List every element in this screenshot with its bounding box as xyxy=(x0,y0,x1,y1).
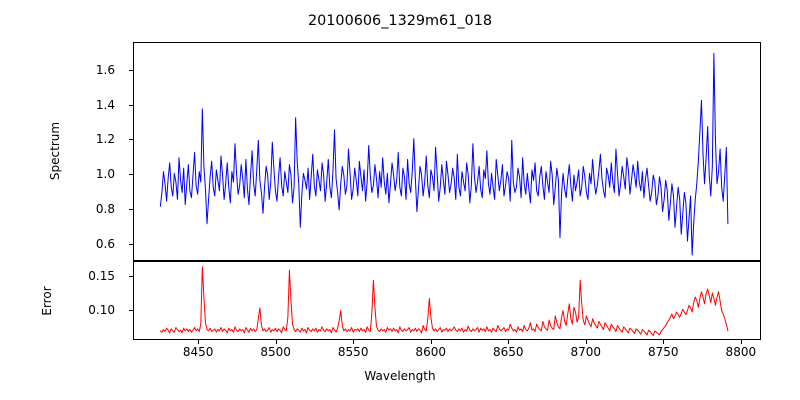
xtick-label: 8500 xyxy=(260,345,291,359)
ytick-label: 1.2 xyxy=(96,132,115,146)
figure-title: 20100606_1329m61_018 xyxy=(0,13,800,29)
error-line-series xyxy=(134,262,761,340)
error-ytick-labels: 0.100.15 xyxy=(81,261,125,340)
xtick-mark xyxy=(663,340,664,344)
spectrum-axis-label: Spectrum xyxy=(48,91,62,211)
matplotlib-figure: 20100606_1329m61_018 0.60.81.01.21.41.6 … xyxy=(0,0,800,400)
ytick-mark xyxy=(129,174,133,175)
xtick-label: 8450 xyxy=(183,345,214,359)
error-axes xyxy=(133,261,761,340)
ytick-mark xyxy=(129,105,133,106)
xtick-label: 8750 xyxy=(648,345,679,359)
xtick-mark xyxy=(198,340,199,344)
xtick-mark xyxy=(431,340,432,344)
x-axis-label: Wavelength xyxy=(0,369,800,383)
ytick-mark xyxy=(129,244,133,245)
ytick-label: 0.6 xyxy=(96,237,115,251)
ytick-mark xyxy=(129,276,133,277)
xtick-label: 8700 xyxy=(570,345,601,359)
spectrum-panel-path xyxy=(160,53,728,255)
ytick-mark xyxy=(129,139,133,140)
xtick-mark xyxy=(741,340,742,344)
error-axis-label: Error xyxy=(40,261,54,341)
ytick-label: 0.15 xyxy=(88,269,115,283)
xtick-label: 8650 xyxy=(493,345,524,359)
spectrum-ytick-labels: 0.60.81.01.21.41.6 xyxy=(81,42,125,261)
ytick-label: 1.0 xyxy=(96,167,115,181)
spectrum-axes xyxy=(133,42,761,261)
ytick-mark xyxy=(129,310,133,311)
ytick-label: 0.10 xyxy=(88,303,115,317)
xtick-mark xyxy=(353,340,354,344)
xtick-mark xyxy=(276,340,277,344)
xtick-mark xyxy=(508,340,509,344)
xtick-label: 8550 xyxy=(338,345,369,359)
ytick-label: 0.8 xyxy=(96,202,115,216)
ytick-label: 1.6 xyxy=(96,63,115,77)
ytick-label: 1.4 xyxy=(96,98,115,112)
ytick-mark xyxy=(129,209,133,210)
spectrum-line-series xyxy=(134,43,761,261)
xtick-mark xyxy=(586,340,587,344)
xtick-label: 8800 xyxy=(726,345,757,359)
error-panel-path xyxy=(160,267,728,336)
xtick-label: 8600 xyxy=(415,345,446,359)
ytick-mark xyxy=(129,70,133,71)
